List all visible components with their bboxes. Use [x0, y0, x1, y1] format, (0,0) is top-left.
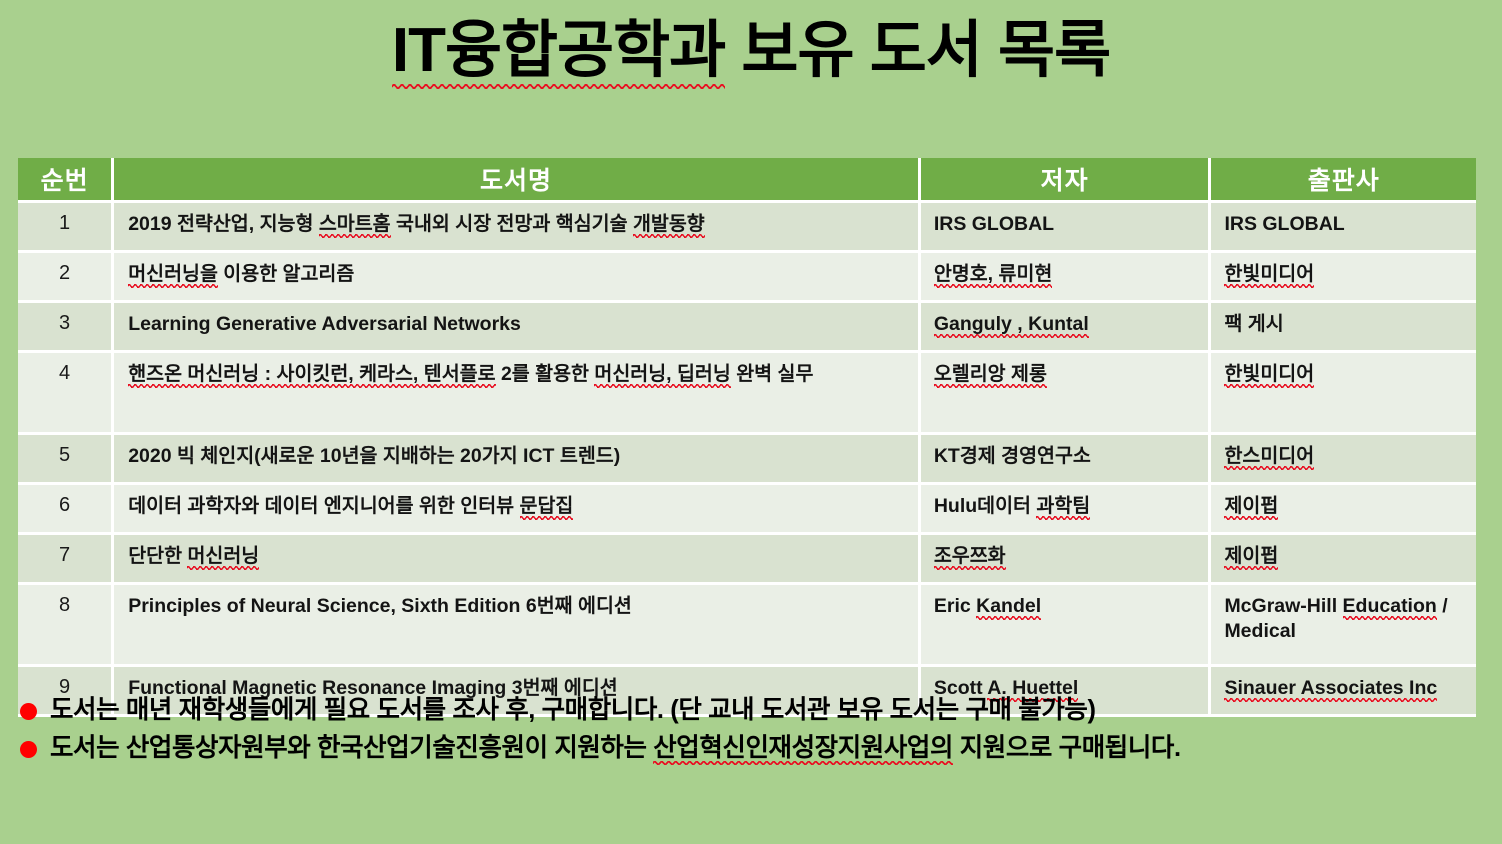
book-text-misspelled: 문답집: [520, 495, 574, 520]
book-text-misspelled: 머신러닝, 딥러닝: [594, 363, 730, 388]
table-row: 3 Learning Generative Adversarial Networ…: [18, 303, 1476, 353]
cell-author: 오렐리앙 제롱: [921, 353, 1212, 435]
publisher-text: IRS GLOBAL: [1224, 213, 1344, 235]
footnote-text: 도서는 매년 재학생들에게 필요 도서를 조사 후, 구매합니다. (단 교내 …: [50, 694, 1096, 728]
table-header-row: 순번 도서명 저자 출판사: [18, 158, 1476, 203]
cell-publisher: 팩 게시: [1211, 303, 1476, 353]
cell-book-title: 핸즈온 머신러닝 : 사이킷런, 케라스, 텐서플로 2를 활용한 머신러닝, …: [114, 353, 921, 435]
table-row: 1 2019 전략산업, 지능형 스마트홈 국내외 시장 전망과 핵심기술 개발…: [18, 203, 1476, 253]
cell-publisher: 한빛미디어: [1211, 253, 1476, 303]
table-row: 6 데이터 과학자와 데이터 엔지니어를 위한 인터뷰 문답집 Hulu데이터 …: [18, 485, 1476, 535]
book-text: Principles of Neural Science, Sixth Edit…: [128, 595, 632, 617]
footnote-text: 도서는 산업통상자원부와 한국산업기술진흥원이 지원하는 산업혁신인재성장지원사…: [50, 732, 1181, 766]
book-text-misspelled: 스마트홈: [319, 213, 391, 238]
footnotes: 도서는 매년 재학생들에게 필요 도서를 조사 후, 구매합니다. (단 교내 …: [20, 694, 1480, 769]
book-text-misspelled: 머신러닝을: [128, 263, 218, 288]
book-text-misspelled: 머신러닝: [187, 545, 259, 570]
cell-no: 6: [18, 485, 114, 535]
footnote-text-part: 도서는 산업통상자원부와 한국산업기술진흥원이 지원하는: [50, 734, 653, 762]
cell-book-title: 2020 빅 체인지(새로운 10년을 지배하는 20가지 ICT 트렌드): [114, 435, 921, 485]
author-text-misspelled: 조우쯔화: [934, 545, 1006, 570]
cell-book-title: 2019 전략산업, 지능형 스마트홈 국내외 시장 전망과 핵심기술 개발동향: [114, 203, 921, 253]
page-title: IT융합공학과 보유 도서 목록: [0, 18, 1502, 83]
author-text-misspelled: Kandel: [976, 595, 1041, 620]
author-text-misspelled: 오렐리앙 제롱: [934, 363, 1047, 388]
author-text: Eric: [934, 595, 976, 617]
book-text: 2020 빅 체인지(새로운 10년을 지배하는 20가지 ICT 트렌드): [128, 445, 620, 467]
table-row: 5 2020 빅 체인지(새로운 10년을 지배하는 20가지 ICT 트렌드)…: [18, 435, 1476, 485]
book-text: 단단한: [128, 545, 187, 567]
table-row: 2 머신러닝을 이용한 알고리즘 안명호, 류미현 한빛미디어: [18, 253, 1476, 303]
cell-author: 조우쯔화: [921, 535, 1212, 585]
cell-publisher: IRS GLOBAL: [1211, 203, 1476, 253]
footnote-text-part: 지원으로 구매됩니다.: [953, 734, 1181, 762]
cell-author: IRS GLOBAL: [921, 203, 1212, 253]
publisher-text: McGraw-Hill: [1224, 595, 1342, 617]
book-list-table: 순번 도서명 저자 출판사 1 2019 전략산업, 지능형 스마트홈 국내외 …: [18, 158, 1476, 717]
column-header-author: 저자: [921, 158, 1212, 203]
author-text-misspelled: 안명호, 류미현: [934, 263, 1052, 288]
publisher-text-misspelled: 제이펍: [1224, 495, 1278, 520]
footnote-text-part: 도서는 매년 재학생들에게 필요 도서를 조사 후, 구매합니다. (단 교내 …: [50, 696, 1096, 724]
book-text: 데이터 과학자와 데이터 엔지니어를 위한 인터뷰: [128, 495, 519, 517]
book-text: 이용한 알고리즘: [218, 263, 354, 285]
author-text: KT경제 경영연구소: [934, 445, 1091, 467]
author-text: IRS GLOBAL: [934, 213, 1054, 235]
cell-publisher: 제이펍: [1211, 485, 1476, 535]
bullet-dot-icon: [20, 741, 37, 758]
cell-author: 안명호, 류미현: [921, 253, 1212, 303]
column-header-publisher: 출판사: [1211, 158, 1476, 203]
cell-publisher: McGraw-Hill Education / Medical: [1211, 585, 1476, 667]
author-text: Hulu데이터: [934, 495, 1037, 517]
cell-author: Ganguly , Kuntal: [921, 303, 1212, 353]
publisher-text-misspelled: Education: [1343, 595, 1437, 620]
cell-no: 8: [18, 585, 114, 667]
footnote-text-misspelled: 산업혁신인재성장지원사업의: [653, 734, 953, 765]
cell-no: 3: [18, 303, 114, 353]
publisher-text-misspelled: 한빛미디어: [1224, 363, 1314, 388]
table-row: 7 단단한 머신러닝 조우쯔화 제이펍: [18, 535, 1476, 585]
footnote-item: 도서는 매년 재학생들에게 필요 도서를 조사 후, 구매합니다. (단 교내 …: [20, 694, 1480, 728]
cell-book-title: 머신러닝을 이용한 알고리즘: [114, 253, 921, 303]
publisher-text-misspelled: 한스미디어: [1224, 445, 1314, 470]
page-title-misspelled-part: IT융합공학과: [392, 16, 725, 89]
cell-publisher: 제이펍: [1211, 535, 1476, 585]
footnote-item: 도서는 산업통상자원부와 한국산업기술진흥원이 지원하는 산업혁신인재성장지원사…: [20, 732, 1480, 766]
cell-no: 2: [18, 253, 114, 303]
book-text: 2019 전략산업, 지능형: [128, 213, 319, 235]
book-text: 2를 활용한: [496, 363, 595, 385]
cell-author: Hulu데이터 과학팀: [921, 485, 1212, 535]
cell-publisher: 한빛미디어: [1211, 353, 1476, 435]
cell-book-title: 단단한 머신러닝: [114, 535, 921, 585]
cell-author: KT경제 경영연구소: [921, 435, 1212, 485]
cell-author: Eric Kandel: [921, 585, 1212, 667]
book-text: 국내외 시장 전망과 핵심기술: [391, 213, 633, 235]
column-header-book: 도서명: [114, 158, 921, 203]
cell-no: 1: [18, 203, 114, 253]
table-row: 4 핸즈온 머신러닝 : 사이킷런, 케라스, 텐서플로 2를 활용한 머신러닝…: [18, 353, 1476, 435]
cell-book-title: Principles of Neural Science, Sixth Edit…: [114, 585, 921, 667]
book-text-misspelled: 핸즈온 머신러닝 : 사이킷런, 케라스, 텐서플로: [128, 363, 495, 388]
cell-no: 7: [18, 535, 114, 585]
book-text-misspelled: 개발동향: [633, 213, 705, 238]
table-row: 8 Principles of Neural Science, Sixth Ed…: [18, 585, 1476, 667]
cell-publisher: 한스미디어: [1211, 435, 1476, 485]
bullet-dot-icon: [20, 703, 37, 720]
author-text-misspelled: 과학팀: [1036, 495, 1090, 520]
page-title-rest: 보유 도서 목록: [725, 16, 1110, 85]
publisher-text-misspelled: 한빛미디어: [1224, 263, 1314, 288]
table-body: 1 2019 전략산업, 지능형 스마트홈 국내외 시장 전망과 핵심기술 개발…: [18, 203, 1476, 717]
cell-book-title: Learning Generative Adversarial Networks: [114, 303, 921, 353]
cell-no: 5: [18, 435, 114, 485]
cell-book-title: 데이터 과학자와 데이터 엔지니어를 위한 인터뷰 문답집: [114, 485, 921, 535]
author-text-misspelled: Ganguly , Kuntal: [934, 313, 1089, 338]
book-text: 완벽 실무: [731, 363, 814, 385]
column-header-no: 순번: [18, 158, 114, 203]
publisher-text-misspelled: 제이펍: [1224, 545, 1278, 570]
cell-no: 4: [18, 353, 114, 435]
publisher-text: 팩 게시: [1224, 313, 1283, 335]
book-text: Learning Generative Adversarial Networks: [128, 313, 521, 335]
